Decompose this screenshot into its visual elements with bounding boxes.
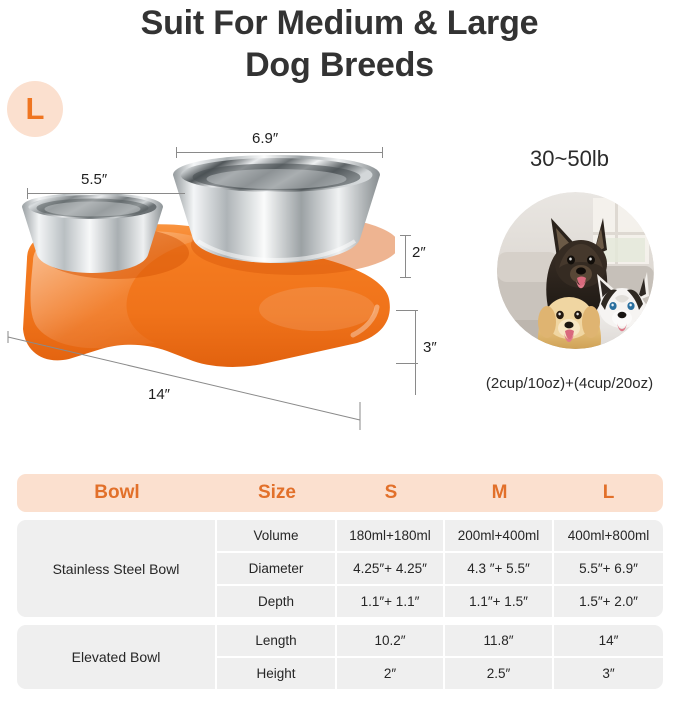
cell-l: 1.5″+ 2.0″ — [554, 586, 663, 617]
size-badge-label: L — [26, 93, 45, 124]
spec-group-elevated-bowl: Elevated Bowl Length 10.2″ 11.8″ 14″ Hei… — [17, 625, 663, 689]
dimension-cap-bottom-2 — [396, 363, 418, 364]
dimension-line-small-diameter — [27, 193, 185, 194]
weight-range-label: 30~50lb — [460, 146, 679, 172]
cell-m: 200ml+400ml — [445, 520, 552, 551]
table-row: Depth 1.1″+ 1.1″ 1.1″+ 1.5″ 1.5″+ 2.0″ — [217, 586, 663, 617]
column-header-s: S — [337, 482, 445, 504]
column-header-m: M — [445, 482, 554, 504]
dimension-label-small-diameter: 5.5″ — [81, 171, 107, 188]
dimension-label-depth: 2″ — [412, 244, 426, 261]
page-title-line-2: Dog Breeds — [0, 44, 679, 86]
group-rows-elevated: Length 10.2″ 11.8″ 14″ Height 2″ 2.5″ 3″ — [217, 625, 663, 689]
spec-group-stainless-steel-bowl: Stainless Steel Bowl Volume 180ml+180ml … — [17, 520, 663, 617]
spec-table: Bowl Size S M L Stainless Steel Bowl Vol… — [17, 474, 663, 689]
cell-s: 4.25″+ 4.25″ — [337, 553, 443, 584]
cell-l: 3″ — [554, 658, 663, 689]
dimension-cap-top — [400, 235, 411, 236]
three-dogs-photo — [497, 192, 654, 349]
page-title-line-1: Suit For Medium & Large — [141, 4, 539, 42]
stainless-bowl-large — [170, 155, 383, 263]
cell-s: 2″ — [337, 658, 443, 689]
bowl-large-shape — [170, 155, 383, 263]
spec-table-header-row: Bowl Size S M L — [17, 474, 663, 512]
dimension-line-large-diameter — [176, 152, 382, 153]
dimension-cap-right — [382, 147, 383, 158]
cell-size: Diameter — [217, 553, 335, 584]
dimension-label-height: 3″ — [423, 339, 437, 356]
table-row: Height 2″ 2.5″ 3″ — [217, 658, 663, 689]
cell-size: Depth — [217, 586, 335, 617]
cell-l: 5.5″+ 6.9″ — [554, 553, 663, 584]
dimension-line-height — [415, 310, 416, 395]
dimension-cap-bottom — [400, 277, 411, 278]
cell-s: 180ml+180ml — [337, 520, 443, 551]
cell-m: 11.8″ — [445, 625, 552, 656]
cell-s: 10.2″ — [337, 625, 443, 656]
stainless-bowl-small — [20, 193, 165, 273]
dimension-cap-left — [176, 147, 177, 158]
group-label-elevated-bowl: Elevated Bowl — [17, 625, 215, 689]
cell-size: Volume — [217, 520, 335, 551]
dimension-label-length: 14″ — [148, 386, 170, 403]
cell-l: 14″ — [554, 625, 663, 656]
table-row: Length 10.2″ 11.8″ 14″ — [217, 625, 663, 656]
cell-m: 1.1″+ 1.5″ — [445, 586, 552, 617]
dimension-label-large-diameter: 6.9″ — [252, 130, 278, 147]
column-header-bowl: Bowl — [17, 482, 217, 504]
product-illustration: 6.9″ 5.5″ 2″ 3″ 14″ — [0, 120, 460, 445]
cups-capacity-label: (2cup/10oz)+(4cup/20oz) — [458, 375, 679, 392]
page-title: Suit For Medium & Large Dog Breeds — [0, 2, 679, 86]
dogs-photo-illustration — [497, 192, 654, 349]
group-rows-stainless: Volume 180ml+180ml 200ml+400ml 400ml+800… — [217, 520, 663, 617]
cell-size: Height — [217, 658, 335, 689]
cell-s: 1.1″+ 1.1″ — [337, 586, 443, 617]
dimension-cap-left-2 — [27, 188, 28, 199]
table-row: Volume 180ml+180ml 200ml+400ml 400ml+800… — [217, 520, 663, 551]
column-header-size: Size — [217, 482, 337, 504]
dimension-line-depth — [405, 235, 406, 277]
cell-l: 400ml+800ml — [554, 520, 663, 551]
cell-size: Length — [217, 625, 335, 656]
group-label-stainless-steel-bowl: Stainless Steel Bowl — [17, 520, 215, 617]
dimension-cap-top-2 — [396, 310, 418, 311]
column-header-l: L — [554, 482, 663, 504]
cell-m: 2.5″ — [445, 658, 552, 689]
bowl-small-shape — [20, 193, 165, 273]
table-row: Diameter 4.25″+ 4.25″ 4.3 ″+ 5.5″ 5.5″+ … — [217, 553, 663, 584]
cell-m: 4.3 ″+ 5.5″ — [445, 553, 552, 584]
